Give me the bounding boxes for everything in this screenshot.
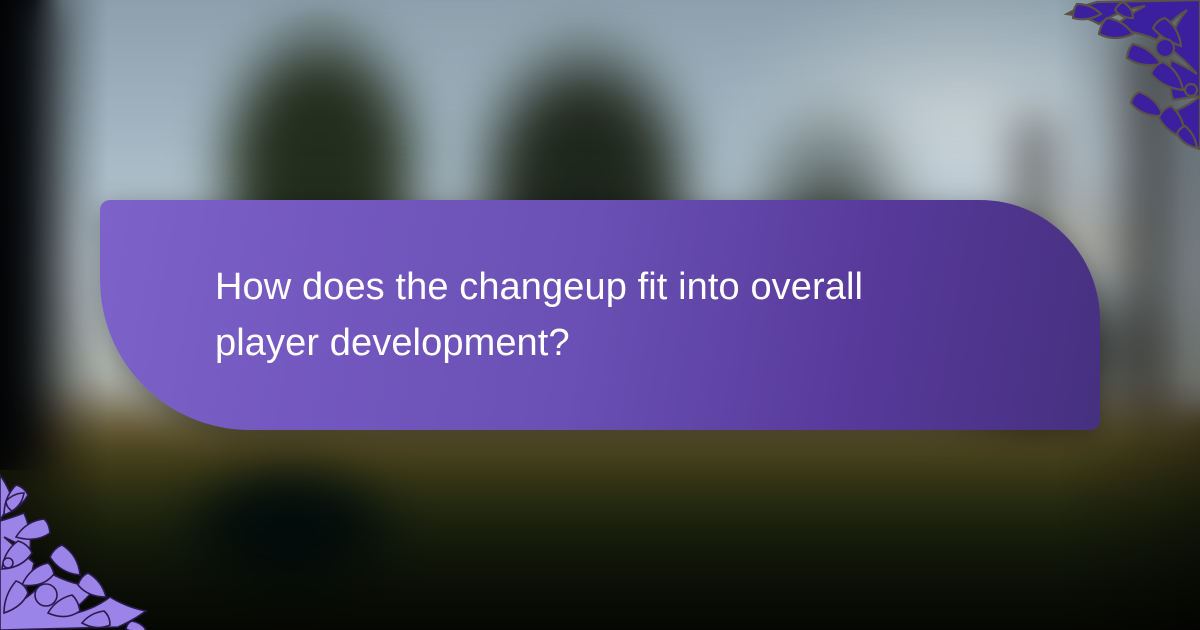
question-banner: How does the changeup fit into overall p… bbox=[100, 200, 1100, 430]
question-text: How does the changeup fit into overall p… bbox=[215, 259, 975, 371]
screenshot-canvas: How does the changeup fit into overall p… bbox=[0, 0, 1200, 630]
